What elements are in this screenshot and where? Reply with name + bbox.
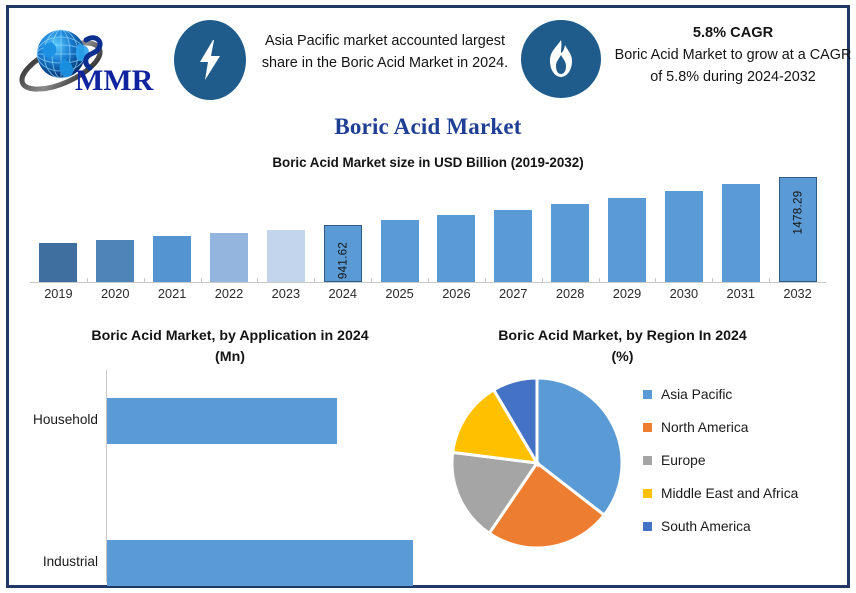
- x-label-2029: 2029: [599, 286, 656, 301]
- cagr-statement-block: 5.8% CAGR Boric Acid Market to grow at a…: [609, 22, 856, 88]
- legend-item[interactable]: Middle East and Africa: [643, 477, 843, 510]
- bar-column: [712, 177, 769, 282]
- region-chart-title-line1: Boric Acid Market, by Region In 2024: [498, 328, 747, 344]
- pie-graphic: [450, 366, 640, 561]
- mmr-logo[interactable]: MMR: [17, 22, 167, 100]
- bar-chart-title: Boric Acid Market size in USD Billion (2…: [14, 155, 842, 170]
- application-chart-title-line2: (Mn): [215, 349, 245, 365]
- hbar-household: [107, 398, 337, 444]
- legend-label: South America: [661, 519, 751, 534]
- axis-tick: [371, 278, 372, 283]
- region-chart-title: Boric Acid Market, by Region In 2024 (%): [450, 326, 795, 368]
- bar-2023: [267, 230, 305, 282]
- bar-column: [599, 177, 656, 282]
- bar-column: 1478.29: [769, 177, 826, 282]
- axis-tick: [542, 278, 543, 283]
- bar-2022: [210, 233, 248, 282]
- application-chart-plot: HouseholdIndustrial: [10, 370, 435, 582]
- x-label-2022: 2022: [201, 286, 258, 301]
- x-label-2031: 2031: [712, 286, 769, 301]
- bar-column: [30, 177, 87, 282]
- bar-chart-x-axis-labels: 2019202020212022202320242025202620272028…: [30, 286, 826, 306]
- bar-2029: [608, 198, 646, 282]
- bar-column: [201, 177, 258, 282]
- legend-swatch-icon: [643, 456, 652, 465]
- x-label-2028: 2028: [542, 286, 599, 301]
- bar-column: [144, 177, 201, 282]
- axis-tick: [485, 278, 486, 283]
- legend-label: Asia Pacific: [661, 387, 732, 402]
- axis-tick: [712, 278, 713, 283]
- axis-tick: [655, 278, 656, 283]
- hbar-industrial: [107, 540, 413, 586]
- market-size-bar-chart: Boric Acid Market size in USD Billion (2…: [14, 155, 842, 310]
- globe-icon: MMR: [17, 22, 167, 100]
- application-bar-chart: Boric Acid Market, by Application in 202…: [10, 322, 435, 587]
- x-label-2019: 2019: [30, 286, 87, 301]
- x-label-2024: 2024: [314, 286, 371, 301]
- application-chart-title: Boric Acid Market, by Application in 202…: [30, 326, 430, 368]
- legend-label: Middle East and Africa: [661, 486, 798, 501]
- axis-tick: [257, 278, 258, 283]
- x-label-2025: 2025: [371, 286, 428, 301]
- legend-item[interactable]: North America: [643, 411, 843, 444]
- hbar-label-industrial: Industrial: [10, 554, 98, 569]
- bar-2019: [39, 243, 77, 282]
- lightning-bolt-badge: [174, 20, 246, 100]
- flame-icon: [546, 39, 576, 79]
- legend-swatch-icon: [643, 522, 652, 531]
- bar-2030: [665, 191, 703, 282]
- x-label-2020: 2020: [87, 286, 144, 301]
- bar-column: [371, 177, 428, 282]
- bar-2026: [437, 215, 475, 282]
- bar-2028: [551, 204, 589, 282]
- x-label-2027: 2027: [485, 286, 542, 301]
- x-label-2032: 2032: [769, 286, 826, 301]
- left-statement: Asia Pacific market accounted largest sh…: [256, 30, 514, 74]
- bar-value-label: 1478.29: [791, 190, 804, 234]
- bar-column: [542, 177, 599, 282]
- legend-item[interactable]: Asia Pacific: [643, 378, 843, 411]
- bar-2032: 1478.29: [779, 177, 817, 282]
- x-label-2023: 2023: [257, 286, 314, 301]
- bar-2020: [96, 240, 134, 282]
- legend-item[interactable]: South America: [643, 510, 843, 543]
- infographic-page: MMR Asia Pacific market accounted larges…: [0, 0, 856, 593]
- axis-tick: [769, 278, 770, 283]
- legend-item[interactable]: Europe: [643, 444, 843, 477]
- axis-tick: [201, 278, 202, 283]
- axis-tick: [144, 278, 145, 283]
- flame-badge: [521, 20, 601, 98]
- x-label-2030: 2030: [655, 286, 712, 301]
- bar-2031: [722, 184, 760, 282]
- bar-column: 941.62: [314, 177, 371, 282]
- bar-2027: [494, 210, 532, 282]
- bar-value-label: 941.62: [336, 242, 349, 279]
- axis-tick: [428, 278, 429, 283]
- x-label-2021: 2021: [144, 286, 201, 301]
- bar-2025: [381, 220, 419, 282]
- region-chart-title-line2: (%): [611, 349, 633, 365]
- x-label-2026: 2026: [428, 286, 485, 301]
- legend-label: North America: [661, 420, 748, 435]
- hbar-label-household: Household: [10, 412, 98, 427]
- bar-column: [257, 177, 314, 282]
- cagr-description: Boric Acid Market to grow at a CAGR of 5…: [615, 47, 852, 85]
- page-title: Boric Acid Market: [0, 114, 856, 140]
- lightning-bolt-icon: [195, 38, 225, 82]
- legend-swatch-icon: [643, 390, 652, 399]
- bar-column: [485, 177, 542, 282]
- legend-swatch-icon: [643, 423, 652, 432]
- legend-swatch-icon: [643, 489, 652, 498]
- cagr-headline: 5.8% CAGR: [609, 22, 856, 44]
- logo-text: MMR: [75, 64, 154, 97]
- axis-tick: [599, 278, 600, 283]
- bar-column: [655, 177, 712, 282]
- bar-2024: 941.62: [324, 225, 362, 282]
- pie-legend: Asia PacificNorth AmericaEuropeMiddle Ea…: [643, 378, 843, 543]
- bar-column: [87, 177, 144, 282]
- legend-label: Europe: [661, 453, 706, 468]
- pie-svg: [450, 366, 640, 561]
- header-band: MMR Asia Pacific market accounted larges…: [9, 8, 847, 113]
- application-chart-title-line1: Boric Acid Market, by Application in 202…: [91, 328, 368, 344]
- region-pie-chart: Boric Acid Market, by Region In 2024 (%)…: [440, 322, 848, 587]
- bar-chart-plot: 941.621478.29: [30, 177, 826, 283]
- axis-tick: [87, 278, 88, 283]
- bar-2021: [153, 236, 191, 282]
- bar-column: [428, 177, 485, 282]
- axis-tick: [314, 278, 315, 283]
